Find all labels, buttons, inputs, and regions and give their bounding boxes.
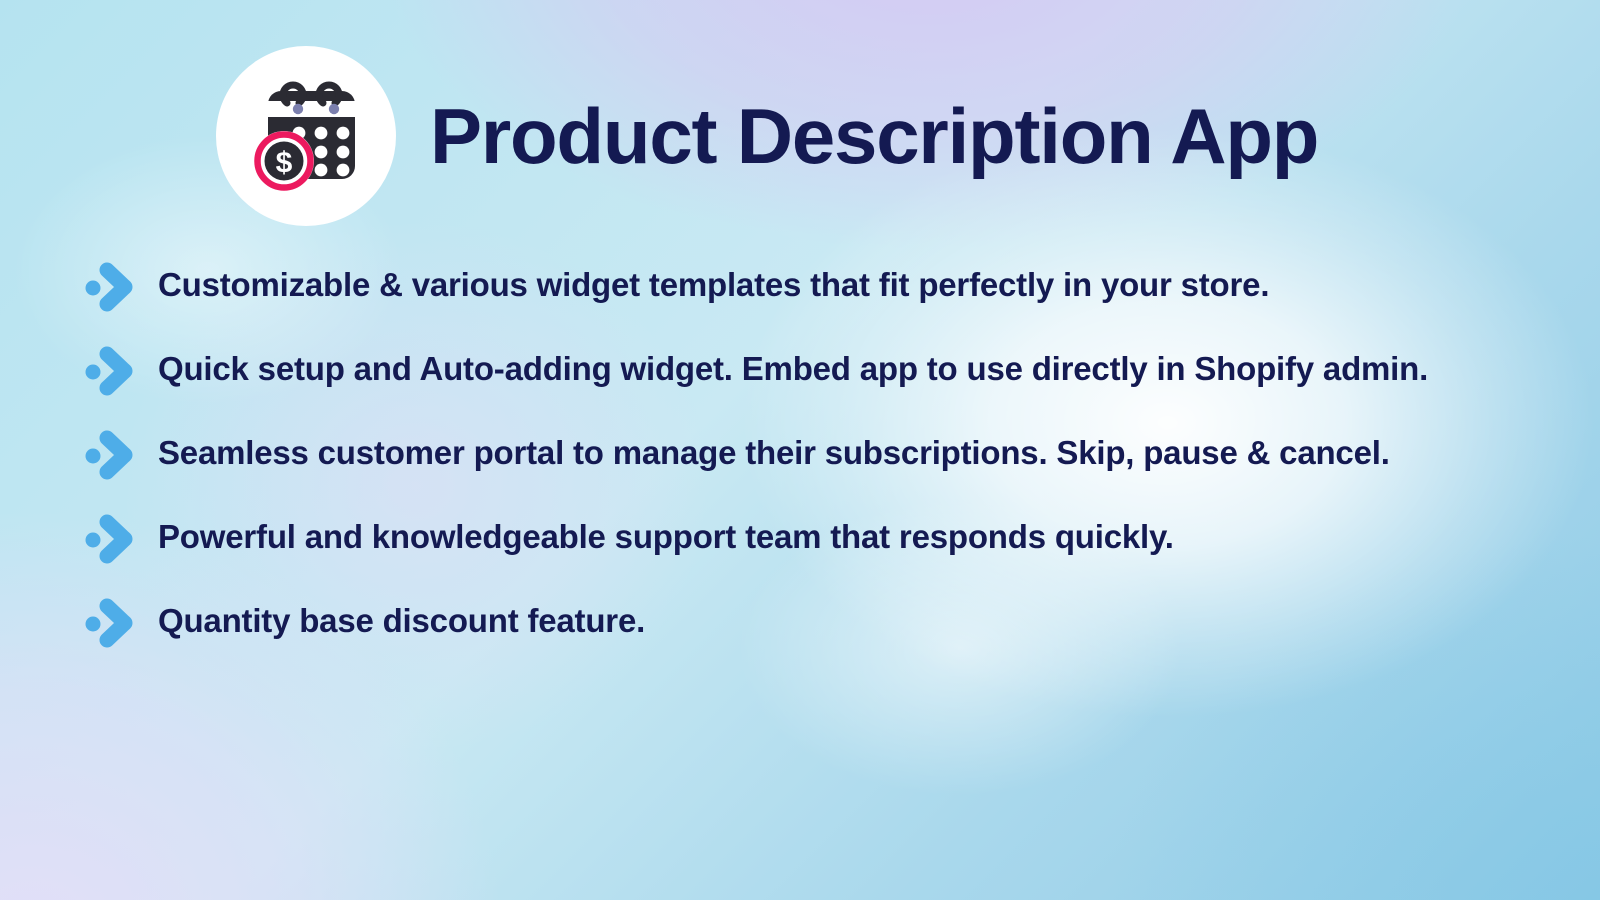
chevron-right-bullet-icon bbox=[84, 430, 140, 480]
feature-text: Powerful and knowledgeable support team … bbox=[158, 510, 1174, 563]
svg-text:$: $ bbox=[276, 147, 293, 180]
chevron-right-bullet-icon bbox=[84, 514, 140, 564]
feature-text: Quantity base discount feature. bbox=[158, 594, 645, 647]
chevron-right-bullet-icon bbox=[84, 598, 140, 648]
logo-badge: $ bbox=[216, 46, 396, 226]
feature-text: Quick setup and Auto-adding widget. Embe… bbox=[158, 342, 1428, 395]
page-title: Product Description App bbox=[430, 97, 1318, 175]
feature-list: Customizable & various widget templates … bbox=[84, 258, 1504, 648]
feature-item: Quick setup and Auto-adding widget. Embe… bbox=[84, 342, 1504, 396]
feature-text: Seamless customer portal to manage their… bbox=[158, 426, 1390, 479]
calendar-dollar-icon: $ bbox=[243, 73, 369, 199]
chevron-right-bullet-icon bbox=[84, 346, 140, 396]
header: $ Product Description App bbox=[216, 46, 1318, 226]
feature-item: Seamless customer portal to manage their… bbox=[84, 426, 1504, 480]
feature-text: Customizable & various widget templates … bbox=[158, 258, 1269, 311]
chevron-right-bullet-icon bbox=[84, 262, 140, 312]
feature-item: Quantity base discount feature. bbox=[84, 594, 1504, 648]
feature-item: Customizable & various widget templates … bbox=[84, 258, 1504, 312]
slide-content: $ Product Description App Customizable &… bbox=[0, 0, 1600, 900]
feature-item: Powerful and knowledgeable support team … bbox=[84, 510, 1504, 564]
